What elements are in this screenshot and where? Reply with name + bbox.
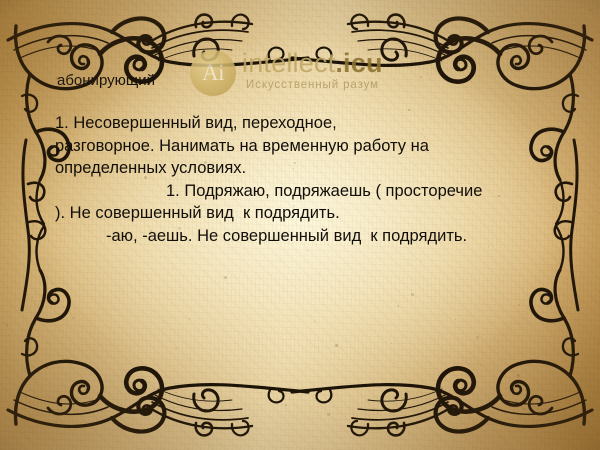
ai-badge-label: Ai bbox=[190, 50, 236, 96]
edge-ornament-bottom-mirror bbox=[292, 385, 592, 432]
watermark-brand-suffix: .icu bbox=[335, 48, 382, 78]
site-watermark: Ai intellect.icu Искусственный разум bbox=[190, 48, 440, 102]
definition-line: 1. Подряжаю, подряжаешь ( просторечие bbox=[55, 180, 565, 203]
definition-line: -аю, -аешь. Не совершенный вид к подряди… bbox=[55, 225, 565, 248]
definition-line: разговорное. Нанимать на временную работ… bbox=[55, 135, 565, 158]
corner-ornament-bottom-right bbox=[348, 226, 584, 435]
edge-ornament-top bbox=[8, 18, 308, 65]
definition-line: определенных условиях. bbox=[55, 157, 565, 180]
watermark-tagline: Искусственный разум bbox=[246, 79, 379, 91]
edge-ornament-bottom bbox=[8, 385, 308, 432]
headword: абонирующий bbox=[57, 72, 155, 89]
watermark-brand-primary: intellect bbox=[242, 48, 335, 78]
edge-ornament-left bbox=[22, 140, 45, 310]
definition-line: 1. Несовершенный вид, переходное, bbox=[55, 112, 565, 135]
watermark-brand: intellect.icu bbox=[242, 48, 383, 79]
edge-ornament-top-mirror bbox=[292, 18, 592, 65]
definition-line: ). Не совершенный вид к подрядить. bbox=[55, 202, 565, 225]
corner-ornament-bottom-left bbox=[16, 226, 252, 435]
parchment-card: Ai intellect.icu Искусственный разум або… bbox=[0, 0, 600, 450]
definition-block: 1. Несовершенный вид, переходное, разгов… bbox=[55, 112, 565, 247]
ai-badge-icon: Ai bbox=[190, 50, 236, 96]
